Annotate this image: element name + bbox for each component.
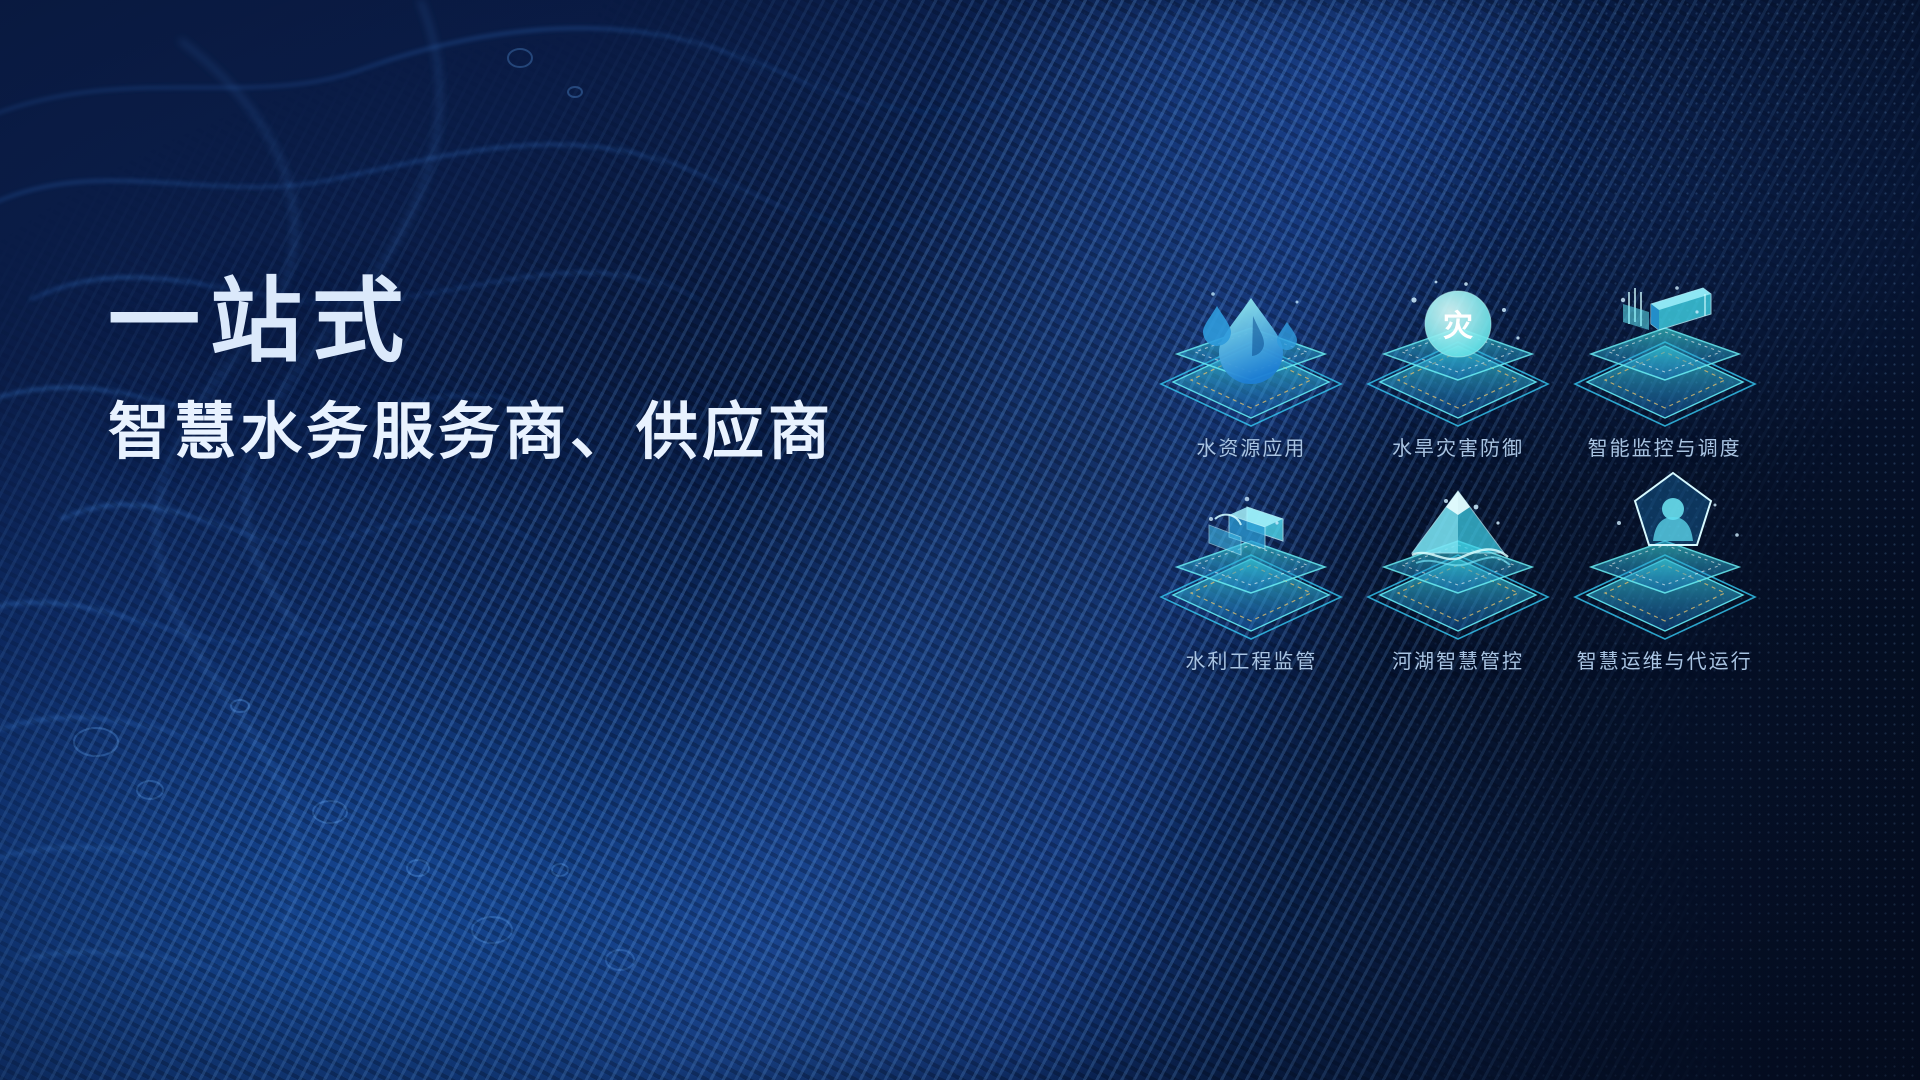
hero-copy: 一站式 智慧水务服务商、供应商	[108, 276, 834, 464]
sphere-glyph: 灾	[1443, 309, 1473, 343]
solution-label: 水资源应用	[1196, 432, 1306, 461]
dam-control-icon	[1565, 276, 1765, 428]
solution-card-river-lake-control[interactable]: 河湖智慧管控	[1355, 489, 1562, 674]
solution-label: 河湖智慧管控	[1392, 645, 1524, 674]
solution-label: 水利工程监管	[1185, 645, 1317, 674]
hydro-structure-icon	[1151, 489, 1351, 641]
solution-card-smart-monitoring-dispatch[interactable]: 智能监控与调度	[1561, 276, 1768, 461]
water-drop-icon	[1151, 276, 1351, 428]
solution-card-water-resource[interactable]: 水资源应用	[1148, 276, 1355, 461]
solution-card-flood-drought-defense[interactable]: 灾 水旱灾害防御	[1355, 276, 1562, 461]
shield-operator-icon	[1565, 489, 1765, 641]
solution-card-smart-om-operation[interactable]: 智慧运维与代运行	[1561, 489, 1768, 674]
page-subtitle: 智慧水务服务商、供应商	[108, 402, 834, 464]
page-title: 一站式	[108, 276, 834, 368]
river-mountain-icon	[1358, 489, 1558, 641]
disaster-sphere-icon: 灾	[1358, 276, 1558, 428]
slide-canvas: 一站式 智慧水务服务商、供应商	[0, 0, 1920, 1080]
solution-label: 水旱灾害防御	[1392, 432, 1524, 461]
solution-card-hydro-project-supervision[interactable]: 水利工程监管	[1148, 489, 1355, 674]
solution-label: 智慧运维与代运行	[1577, 645, 1753, 674]
solutions-grid: 水资源应用	[1148, 276, 1768, 674]
solution-label: 智能监控与调度	[1588, 432, 1742, 461]
